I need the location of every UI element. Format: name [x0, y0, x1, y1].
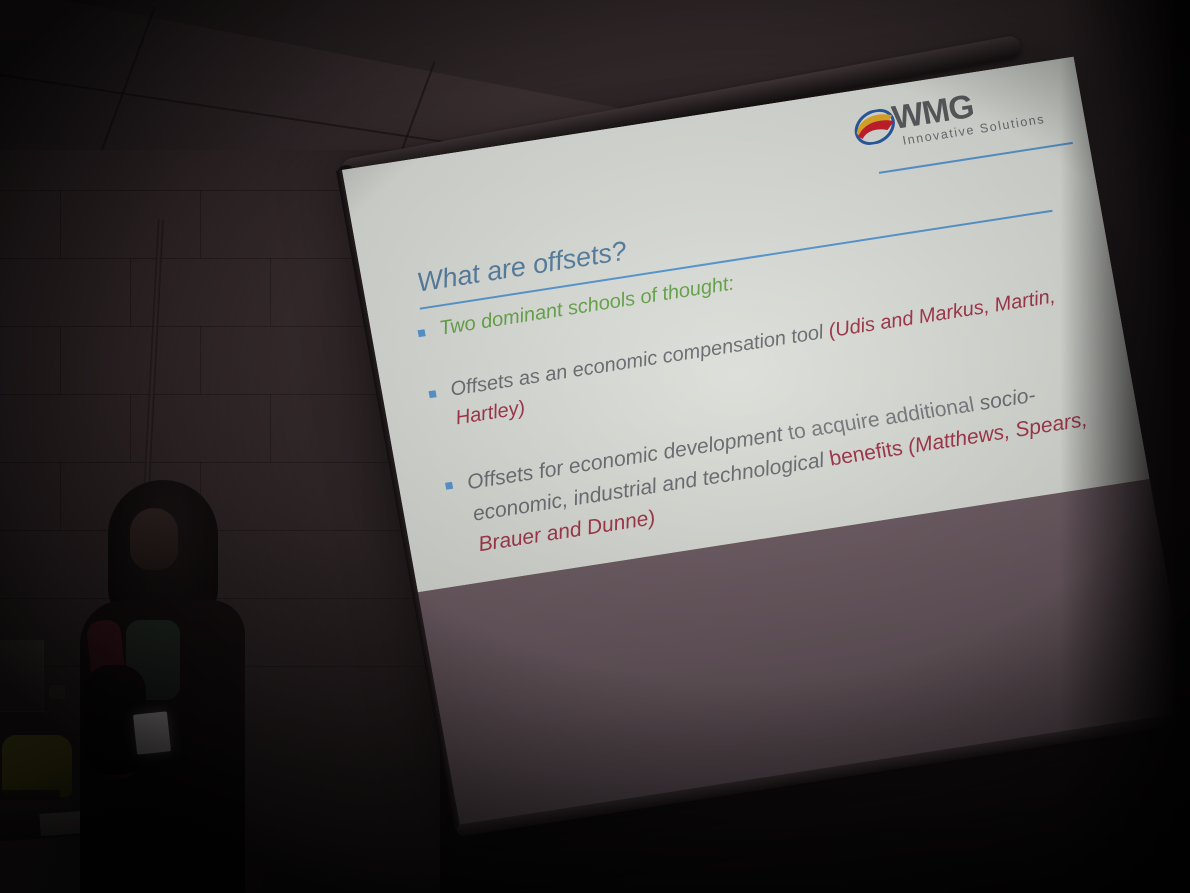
bullet-3-benefits: benefits	[828, 436, 905, 470]
bullet-square-icon	[429, 391, 437, 399]
bullet-square-icon	[445, 482, 453, 490]
presenter-face	[130, 508, 178, 570]
wmg-logo: WMG Innovative Solutions	[850, 74, 1064, 166]
presenter-lanyard-badge	[133, 711, 171, 754]
chair-base	[0, 790, 60, 800]
slide-title: What are offsets?	[415, 236, 630, 299]
photo-scene: WMG Innovative Solutions What are offset…	[0, 0, 1190, 893]
presenter-silhouette	[60, 470, 260, 893]
projector-screen-assembly: WMG Innovative Solutions What are offset…	[300, 10, 1090, 870]
bullet-square-icon	[418, 329, 426, 337]
projection-screen: WMG Innovative Solutions What are offset…	[342, 57, 1190, 830]
whiteboard	[0, 640, 44, 712]
